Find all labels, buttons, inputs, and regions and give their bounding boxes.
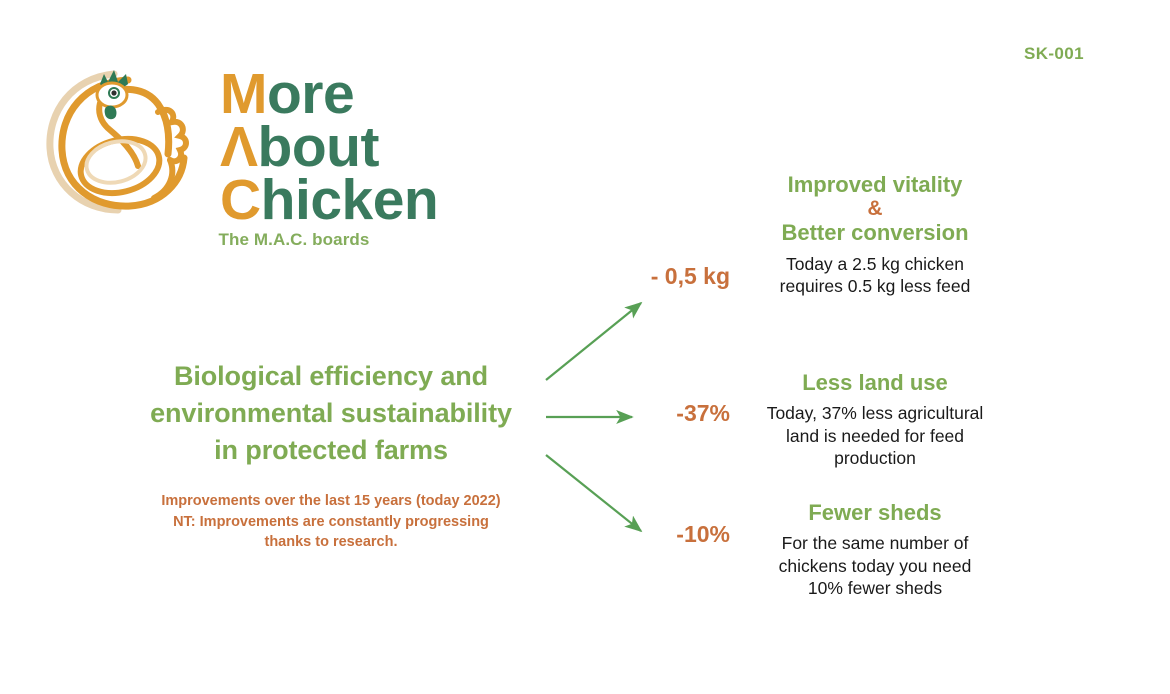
info-block-improved-vitality: Improved vitality & Better conversion To… [730, 172, 1020, 298]
info-body-line-1: For the same number of [730, 532, 1020, 554]
central-note: Improvements over the last 15 years (tod… [96, 491, 566, 553]
central-topic-block: Biological efficiency and environmental … [96, 358, 566, 553]
info-title-line-1: Less land use [730, 370, 1020, 396]
info-body-line-3: 10% fewer sheds [730, 577, 1020, 599]
info-title: Fewer sheds [730, 500, 1020, 526]
metric-land-use-reduction: -37% [610, 400, 730, 427]
info-title-line-1: Fewer sheds [730, 500, 1020, 526]
info-body: For the same number of chickens today yo… [730, 532, 1020, 599]
chicken-line-art-logo-icon [42, 62, 207, 217]
central-note-line-3: thanks to research. [96, 532, 566, 553]
info-title-line-2: Better conversion [730, 220, 1020, 246]
logo-tagline: The M.A.C. boards [134, 230, 454, 250]
info-body: Today a 2.5 kg chicken requires 0.5 kg l… [730, 253, 1020, 298]
info-title-line-1: Improved vitality [730, 172, 1020, 198]
info-body-line-1: Today a 2.5 kg chicken [730, 253, 1020, 275]
slide-code-label: SK-001 [1024, 44, 1084, 64]
info-title: Improved vitality & Better conversion [730, 172, 1020, 247]
logo-line-more: More [220, 68, 438, 121]
logo-initial-c: C [220, 168, 261, 232]
logo-rest-hicken: hicken [261, 168, 439, 232]
info-body: Today, 37% less agricultural land is nee… [730, 402, 1020, 469]
page-title-line-2: environmental sustainability [150, 398, 512, 428]
info-block-fewer-sheds: Fewer sheds For the same number of chick… [730, 500, 1020, 600]
metric-sheds-reduction: -10% [610, 521, 730, 548]
info-title-ampersand: & [730, 198, 1020, 220]
page-title: Biological efficiency and environmental … [96, 358, 566, 469]
info-body-line-3: production [730, 447, 1020, 469]
page-title-line-3: in protected farms [214, 435, 448, 465]
info-body-line-1: Today, 37% less agricultural [730, 402, 1020, 424]
info-title: Less land use [730, 370, 1020, 396]
logo-line-about: Λbout [220, 121, 438, 174]
logo-wordmark: More Λbout Chicken [220, 68, 438, 227]
info-body-line-2: chickens today you need [730, 555, 1020, 577]
central-note-line-1: Improvements over the last 15 years (tod… [96, 491, 566, 512]
central-note-line-2: NT: Improvements are constantly progress… [96, 512, 566, 533]
info-block-less-land-use: Less land use Today, 37% less agricultur… [730, 370, 1020, 470]
logo-line-chicken: Chicken [220, 174, 438, 227]
brand-logo: More Λbout Chicken The M.A.C. boards [42, 62, 462, 262]
info-body-line-2: requires 0.5 kg less feed [730, 275, 1020, 297]
page-title-line-1: Biological efficiency and [174, 361, 488, 391]
metric-feed-reduction: - 0,5 kg [610, 263, 730, 290]
info-body-line-2: land is needed for feed [730, 425, 1020, 447]
